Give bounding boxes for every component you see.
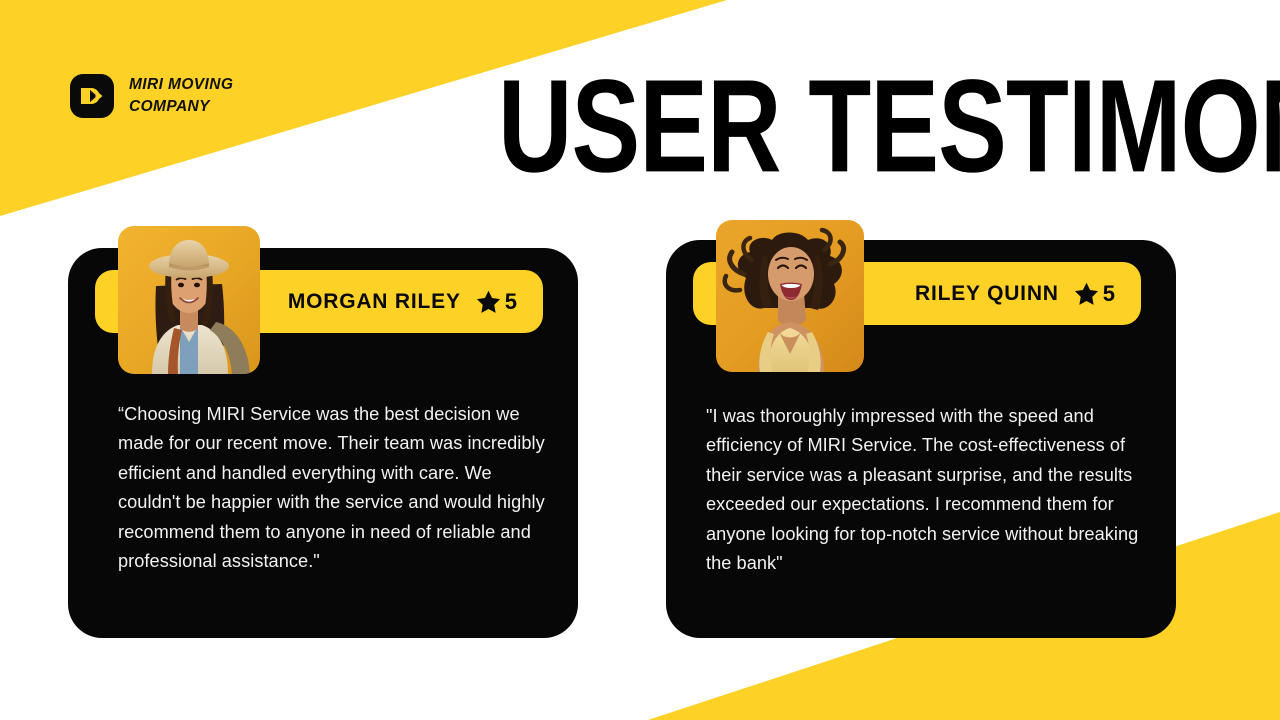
rating-value: 5 <box>1103 281 1115 307</box>
reviewer-name: MORGAN RILEY <box>288 290 461 314</box>
rating: 5 <box>475 289 517 315</box>
testimonial-quote: "I was thoroughly impressed with the spe… <box>706 402 1148 578</box>
star-filled-icon <box>1073 281 1100 307</box>
smiling-woman-with-hat-avatar-image <box>118 226 260 374</box>
brand-lockup: MIRI MOVING COMPANY <box>70 74 233 118</box>
star-filled-icon <box>475 289 502 315</box>
reviewer-avatar <box>716 220 864 372</box>
testimonial-slide: MIRI MOVING COMPANY USER TESTIMONIAL MOR… <box>0 0 1280 720</box>
brand-name: MIRI MOVING COMPANY <box>129 74 233 118</box>
laughing-woman-avatar-image <box>716 220 864 372</box>
page-title: USER TESTIMONIAL <box>498 64 1280 190</box>
rating: 5 <box>1073 281 1115 307</box>
testimonial-quote: “Choosing MIRI Service was the best deci… <box>118 400 550 576</box>
rating-value: 5 <box>505 289 517 315</box>
reviewer-avatar <box>118 226 260 374</box>
brand-logo-mark <box>70 74 114 118</box>
reviewer-name: RILEY QUINN <box>915 282 1059 306</box>
miri-chevron-logo-icon <box>77 81 107 111</box>
